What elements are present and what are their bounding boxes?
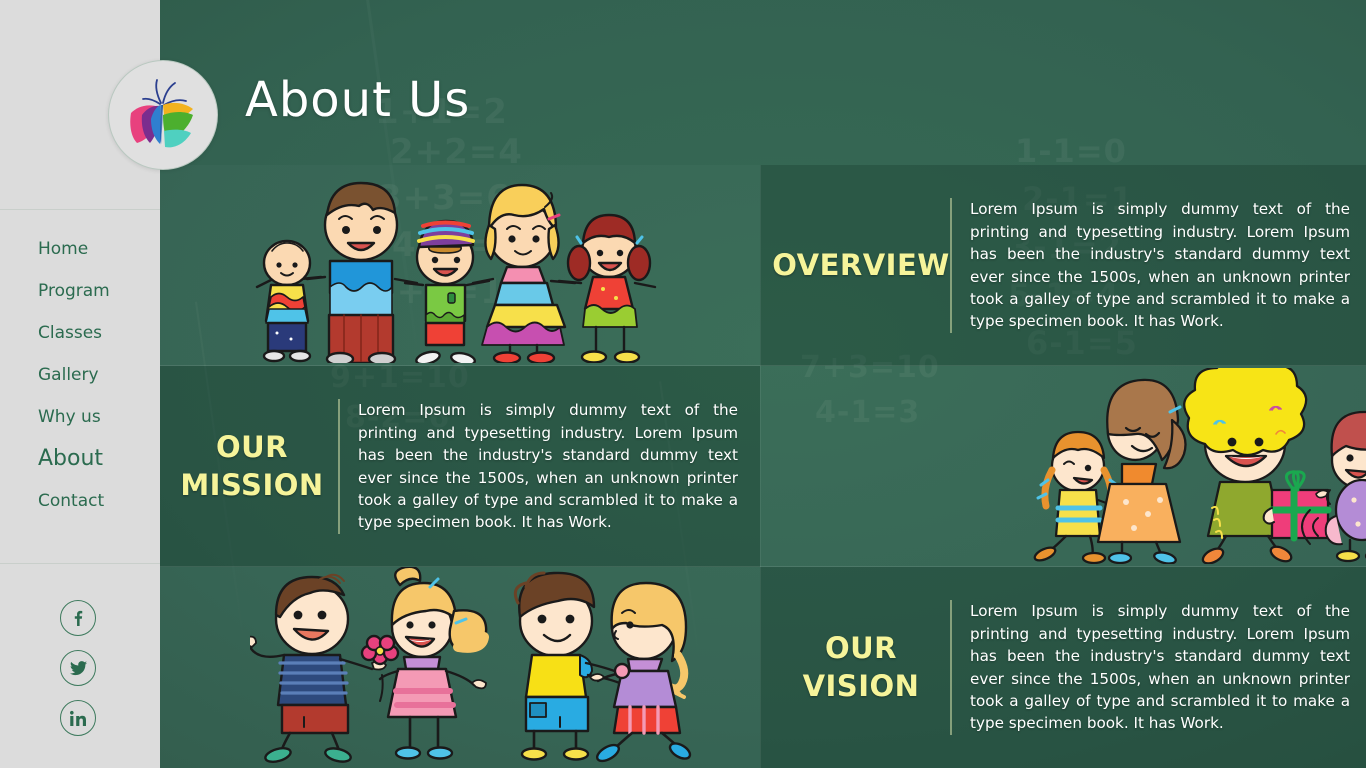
sidebar-divider-bottom (0, 563, 160, 564)
overview-body: Lorem Ipsum is simply dummy text of the … (950, 198, 1350, 332)
sidebar-item-why-us[interactable]: Why us (0, 396, 160, 438)
sidebar-item-contact[interactable]: Contact (0, 480, 160, 522)
facebook-icon[interactable] (60, 600, 96, 636)
cell-overview-text: OVERVIEW Lorem Ipsum is simply dummy tex… (760, 165, 1366, 366)
family-holding-hands-illustration (245, 167, 685, 363)
cell-vision-text: OUR VISION Lorem Ipsum is simply dummy t… (760, 567, 1366, 768)
main-navigation: Home Program Classes Gallery Why us Abou… (0, 228, 160, 522)
grid-divider-row1 (160, 365, 1366, 366)
sidebar-item-classes[interactable]: Classes (0, 312, 160, 354)
butterfly-book-logo-icon (121, 75, 205, 155)
mission-body: Lorem Ipsum is simply dummy text of the … (338, 399, 738, 533)
cell-mission-illustration (760, 366, 1366, 567)
mission-heading: OUR MISSION (166, 429, 338, 504)
mission-heading-line1: OUR (216, 430, 288, 464)
vision-heading-line1: OUR (825, 631, 897, 665)
cell-overview-illustration (160, 165, 760, 366)
twitter-icon[interactable] (60, 650, 96, 686)
overview-heading: OVERVIEW (772, 247, 950, 285)
sidebar-item-program[interactable]: Program (0, 270, 160, 312)
sidebar-item-about[interactable]: About (0, 438, 160, 480)
vision-body: Lorem Ipsum is simply dummy text of the … (950, 600, 1350, 734)
page-title: About Us (245, 72, 470, 128)
grid-divider-row2 (160, 566, 1366, 567)
vision-heading-line2: VISION (803, 669, 920, 703)
sidebar-item-home[interactable]: Home (0, 228, 160, 270)
girls-with-gift-illustration (1030, 368, 1366, 564)
page-header: About Us (160, 0, 1366, 165)
mission-heading-line2: MISSION (180, 468, 323, 502)
cell-vision-illustration (160, 567, 760, 768)
kids-with-flower-illustration (250, 567, 700, 765)
content-grid: OVERVIEW Lorem Ipsum is simply dummy tex… (160, 165, 1366, 768)
logo-circle (108, 60, 218, 170)
about-us-page: 1+1=2 2+2=4 3+3=6 4+4=8 5+5=10 1-1=0 2-1… (0, 0, 1366, 768)
logo[interactable] (108, 60, 218, 170)
grid-divider-col (760, 165, 761, 768)
vision-heading: OUR VISION (772, 630, 950, 705)
social-links (0, 600, 160, 750)
cell-mission-text: OUR MISSION Lorem Ipsum is simply dummy … (160, 366, 760, 567)
linkedin-icon[interactable] (60, 700, 96, 736)
sidebar-divider-top (0, 209, 160, 210)
sidebar-item-gallery[interactable]: Gallery (0, 354, 160, 396)
